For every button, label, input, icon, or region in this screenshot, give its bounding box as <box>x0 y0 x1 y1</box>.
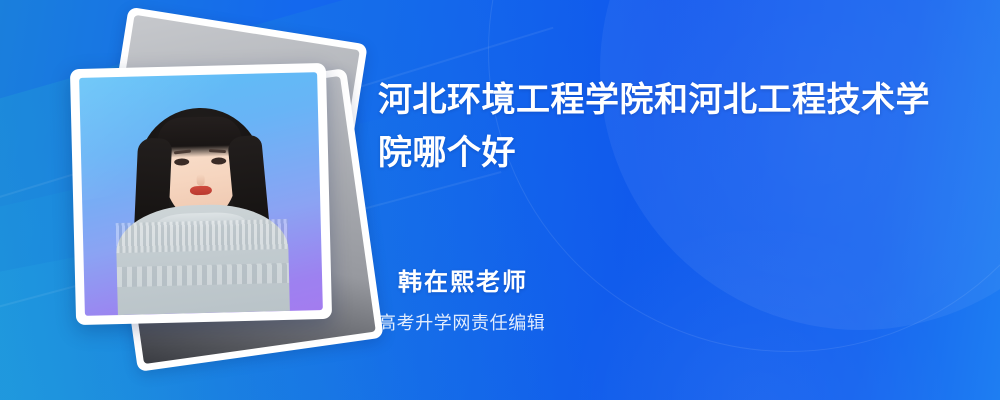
lips <box>190 185 212 195</box>
shoulders-garment <box>115 203 290 315</box>
portrait-illustration <box>79 72 323 316</box>
banner-text-block: 河北环境工程学院和河北工程技术学院哪个好 韩在熙老师 高考升学网责任编辑 <box>378 0 978 400</box>
article-cover-banner: 河北环境工程学院和河北工程技术学院哪个好 韩在熙老师 高考升学网责任编辑 <box>0 0 1000 400</box>
nose <box>197 174 205 186</box>
garment-ruffle <box>117 263 289 287</box>
avatar <box>79 72 323 316</box>
author-name: 韩在熙老师 <box>398 266 898 300</box>
photo-card-stack <box>0 0 380 400</box>
author-role: 高考升学网责任编辑 <box>378 308 898 338</box>
author-byline: 韩在熙老师 高考升学网责任编辑 <box>378 266 898 338</box>
author-photo-card <box>70 63 332 325</box>
page-title: 河北环境工程学院和河北工程技术学院哪个好 <box>378 74 956 180</box>
garment-smocking <box>116 219 289 253</box>
